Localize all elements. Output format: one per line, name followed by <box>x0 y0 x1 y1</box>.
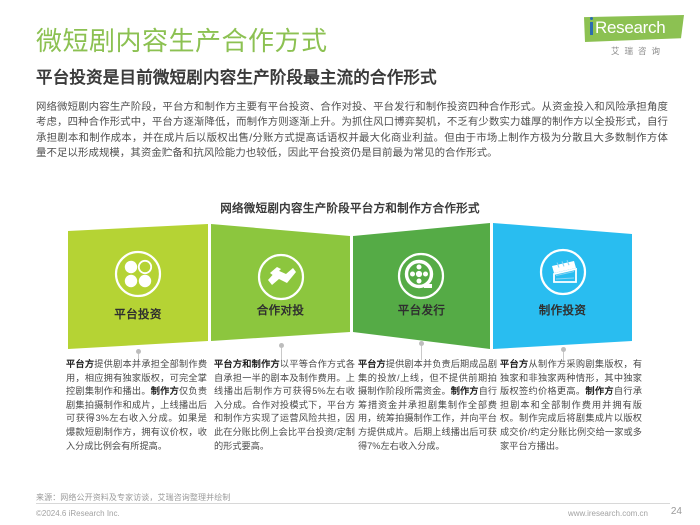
website-url: www.iresearch.com.cn <box>568 509 648 518</box>
connector-dot-2 <box>279 343 284 348</box>
detail-column-3: 平台方提供剧本并负责后期成品剧集的投放/上线，但不提供前期拍摄制作阶段所需资金。… <box>358 358 497 453</box>
flow-label-3: 平台发行 <box>353 302 490 318</box>
slide-canvas: 微短剧内容生产合作方式 平台投资是目前微短剧内容生产阶段最主流的合作形式 Res… <box>0 0 700 525</box>
detail-column-1: 平台方提供剧本并承担全部制作费用，相应拥有独家版权，可完全掌控剧集制作和播出。制… <box>66 358 207 453</box>
connector-dot-1 <box>136 349 141 354</box>
page-title: 微短剧内容生产合作方式 <box>36 26 328 56</box>
flow-labels: 平台投资 合作对投 平台发行 制作投资 <box>0 222 700 354</box>
detail-lead-2a: 平台方和制作方 <box>214 359 280 369</box>
detail-column-2: 平台方和制作方以平等合作方式各自承担一半的剧本及制作费用。上线播出后制作方可获得… <box>214 358 355 453</box>
detail-column-4: 平台方从制作方采购剧集版权，有独家和非独家两种情形，其中独家版权签约价格更高。制… <box>500 358 642 453</box>
logo-wordmark: Research <box>595 18 665 37</box>
source-note: 来源：网络公开资料及专家访谈，艾瑞咨询整理并绘制 <box>36 492 230 503</box>
detail-columns: 平台方提供剧本并承担全部制作费用，相应拥有独家版权，可完全掌控剧集制作和播出。制… <box>0 358 700 488</box>
footer-divider <box>36 503 670 504</box>
copyright-note: ©2024.6 iResearch Inc. <box>36 509 120 518</box>
logo-chinese-name: 艾瑞咨询 <box>590 45 686 57</box>
page-number: 24 <box>671 506 682 517</box>
connector-dot-4 <box>561 347 566 352</box>
logo-mark: Research <box>578 14 686 44</box>
connector-dot-3 <box>419 341 424 346</box>
detail-lead-4b: 制作方 <box>585 386 613 396</box>
iresearch-logo: Research 艾瑞咨询 <box>578 14 686 64</box>
exhibit-title: 网络微短剧内容生产阶段平台方和制作方合作形式 <box>0 200 700 216</box>
flow-label-1: 平台投资 <box>68 306 208 322</box>
intro-paragraph: 网络微短剧内容生产阶段，平台方和制作方主要有平台投资、合作对投、平台发行和制作投… <box>36 100 668 162</box>
detail-lead-1b: 制作方 <box>151 386 179 396</box>
page-subtitle: 平台投资是目前微短剧内容生产阶段最主流的合作形式 <box>36 68 437 88</box>
detail-lead-4a: 平台方 <box>500 359 528 369</box>
flow-label-4: 制作投资 <box>493 302 632 318</box>
detail-lead-3a: 平台方 <box>358 359 386 369</box>
detail-lead-3b: 制作方 <box>451 386 479 396</box>
flow-label-2: 合作对投 <box>211 302 350 318</box>
logo-i-dot-icon <box>590 17 593 20</box>
detail-lead-1a: 平台方 <box>66 359 94 369</box>
logo-i-stem-icon <box>590 22 593 35</box>
